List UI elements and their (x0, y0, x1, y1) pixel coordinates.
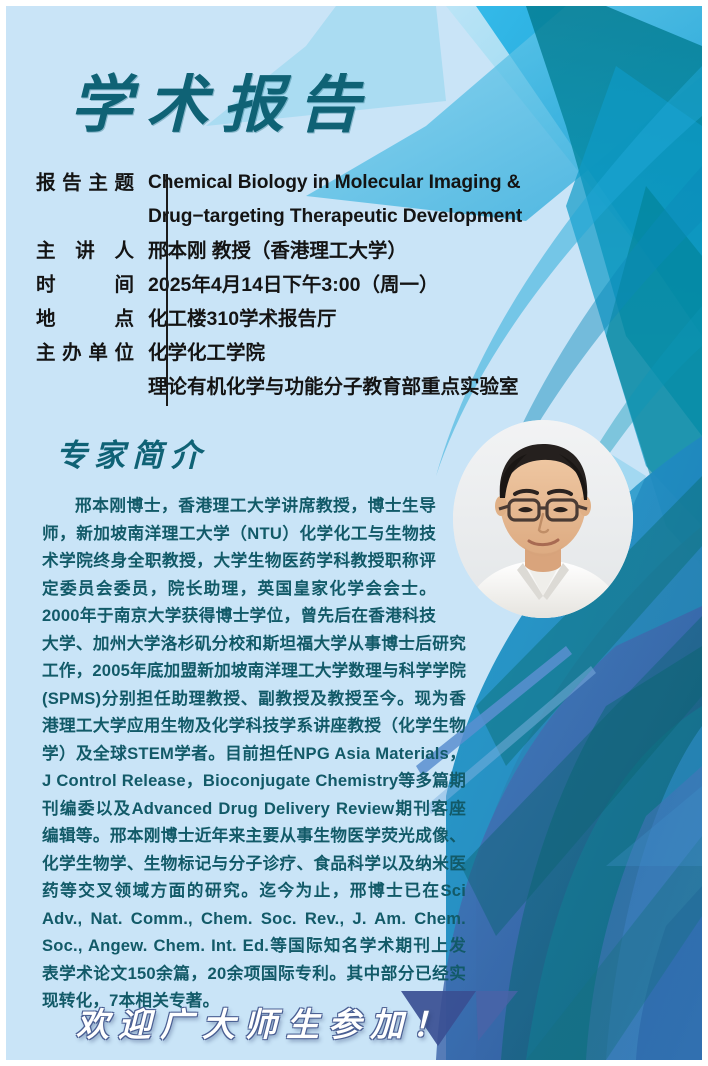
info-value-time: 2025年4月14日下午3:00（周一） (136, 268, 438, 302)
table-row: Drug−targeting Therapeutic Development (36, 200, 636, 234)
speaker-portrait (453, 420, 633, 618)
academic-lecture-poster: 学术报告 报告主题 Chemical Biology in Molecular … (0, 0, 708, 1066)
portrait-illustration (453, 420, 633, 618)
table-row: 时 间 2025年4月14日下午3:00（周一） (36, 268, 636, 302)
table-row: 地 点 化工楼310学术报告厅 (36, 302, 636, 336)
table-row: 主办单位 化学化工学院 (36, 336, 636, 370)
info-label-time: 时 间 (36, 268, 136, 302)
table-row: 理论有机化学与功能分子教育部重点实验室 (36, 370, 636, 404)
biography-text: 邢本刚博士，香港理工大学讲席教授，博士生导师，新加坡南洋理工大学（NTU）化学化… (42, 496, 466, 1010)
lecture-info-table: 报告主题 Chemical Biology in Molecular Imagi… (36, 166, 636, 404)
info-value-organizer-line1: 化学化工学院 (136, 336, 265, 370)
poster-header: 学术报告 (6, 6, 702, 156)
page-title: 学术报告 (70, 54, 374, 144)
info-label-speaker: 主 讲 人 (36, 234, 136, 268)
info-value-topic-line1: Chemical Biology in Molecular Imaging & (136, 166, 520, 200)
poster-canvas: 学术报告 报告主题 Chemical Biology in Molecular … (6, 6, 702, 1060)
info-value-organizer-line2: 理论有机化学与功能分子教育部重点实验室 (136, 370, 519, 404)
info-label-venue: 地 点 (36, 302, 136, 336)
info-value-speaker: 邢本刚 教授（香港理工大学） (136, 234, 407, 268)
info-label-spacer (36, 200, 136, 234)
portrait-text-wrap-spacer (436, 492, 466, 604)
welcome-note: 欢迎广大师生参加！ (76, 998, 454, 1046)
info-label-spacer (36, 370, 136, 404)
table-row: 报告主题 Chemical Biology in Molecular Imagi… (36, 166, 636, 200)
table-row: 主 讲 人 邢本刚 教授（香港理工大学） (36, 234, 636, 268)
expert-section-title: 专家简介 (56, 430, 208, 475)
table-divider (166, 174, 168, 406)
speaker-biography: 邢本刚博士，香港理工大学讲席教授，博士生导师，新加坡南洋理工大学（NTU）化学化… (42, 492, 466, 1015)
info-value-topic-line2: Drug−targeting Therapeutic Development (136, 200, 522, 234)
info-label-topic: 报告主题 (36, 166, 136, 200)
info-label-organizer: 主办单位 (36, 336, 136, 370)
